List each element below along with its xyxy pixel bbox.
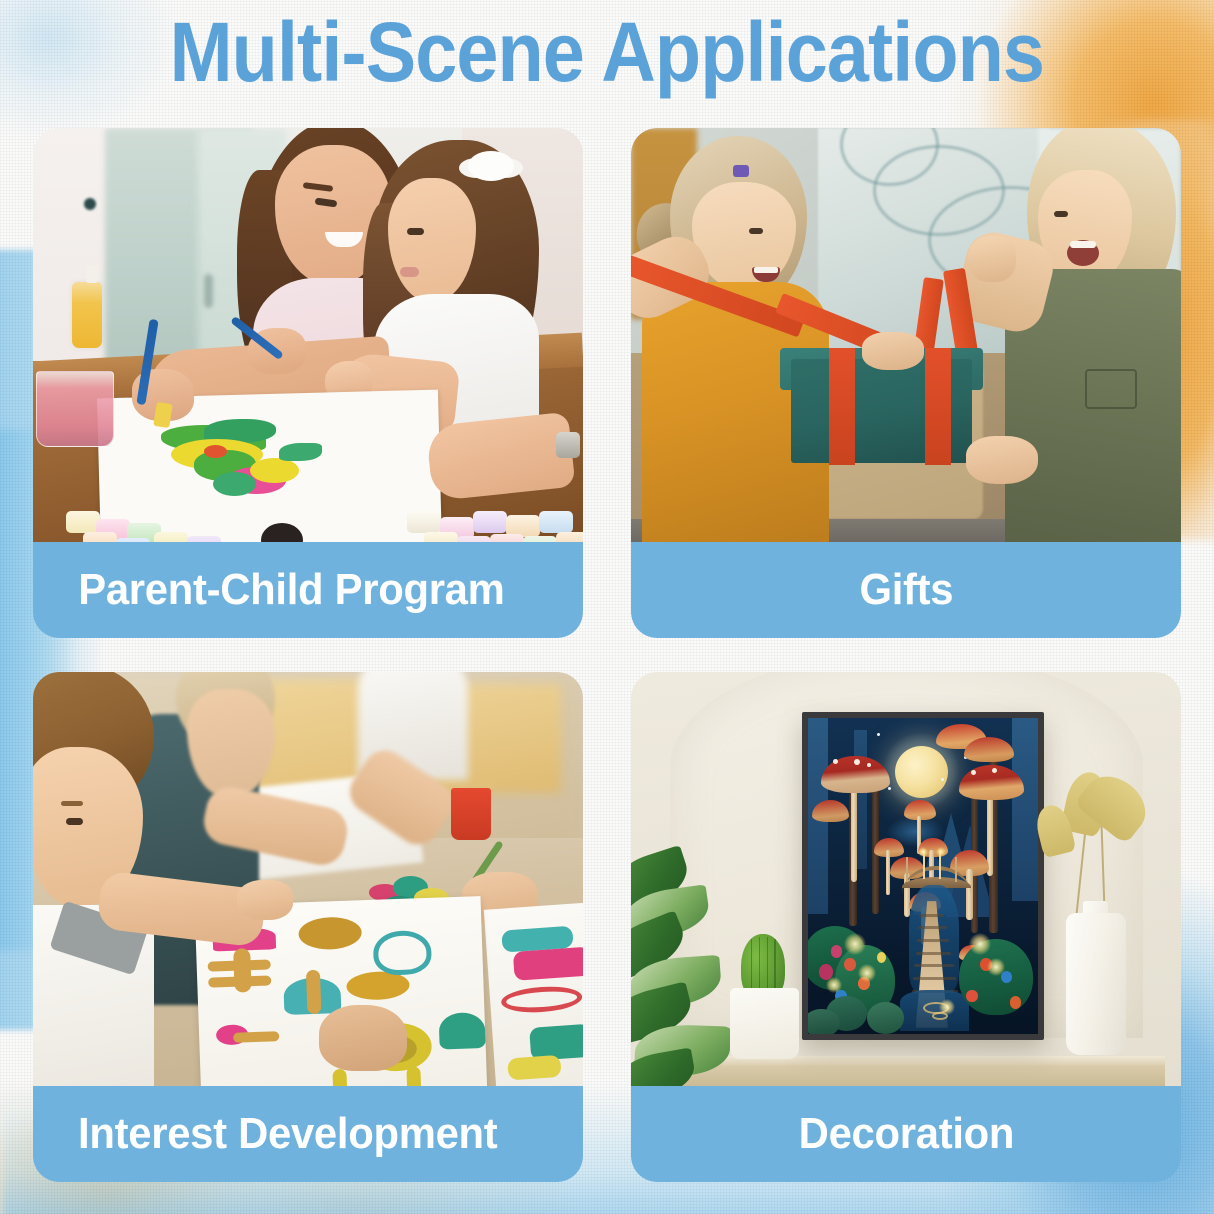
scene-card-decoration[interactable]: Decoration	[631, 672, 1181, 1182]
wristwatch-icon	[556, 432, 580, 458]
page-title: Multi-Scene Applications	[0, 4, 1214, 100]
scene-label-interest-development: Interest Development	[78, 1109, 497, 1159]
cactus-pot	[730, 988, 799, 1059]
scene-label-bar-decoration: Decoration	[631, 1086, 1181, 1182]
scene-label-gifts: Gifts	[859, 565, 953, 615]
scene-card-gifts[interactable]: Gifts	[631, 128, 1181, 638]
dragon-painting	[154, 419, 319, 511]
page-title-text: Multi-Scene Applications	[170, 4, 1044, 100]
decor-vase	[1066, 913, 1127, 1054]
painting-paper	[483, 901, 583, 1088]
mushroom-forest-artwork	[808, 718, 1038, 1035]
picture-frame	[802, 712, 1044, 1041]
photo-classroom-painting	[33, 672, 583, 1088]
water-glass	[36, 371, 114, 447]
hair-bow-icon	[468, 151, 514, 181]
scene-card-interest-development[interactable]: Interest Development	[33, 672, 583, 1182]
scene-label-bar-interest-development: Interest Development	[33, 1086, 583, 1182]
scene-label-bar-gifts: Gifts	[631, 542, 1181, 638]
photo-gift-opening	[631, 128, 1181, 544]
photo-framed-art-decoration	[631, 672, 1181, 1088]
scene-label-decoration: Decoration	[798, 1109, 1013, 1159]
photo-parent-child-painting	[33, 128, 583, 544]
moon-icon	[895, 746, 948, 798]
scene-label-bar-parent-child-program: Parent-Child Program	[33, 542, 583, 638]
scene-card-parent-child-program[interactable]: Parent-Child Program	[33, 128, 583, 638]
scene-label-parent-child-program: Parent-Child Program	[78, 565, 504, 615]
scene-card-grid: Parent-Child Program	[33, 128, 1181, 1192]
paint-water-cup	[451, 788, 491, 840]
